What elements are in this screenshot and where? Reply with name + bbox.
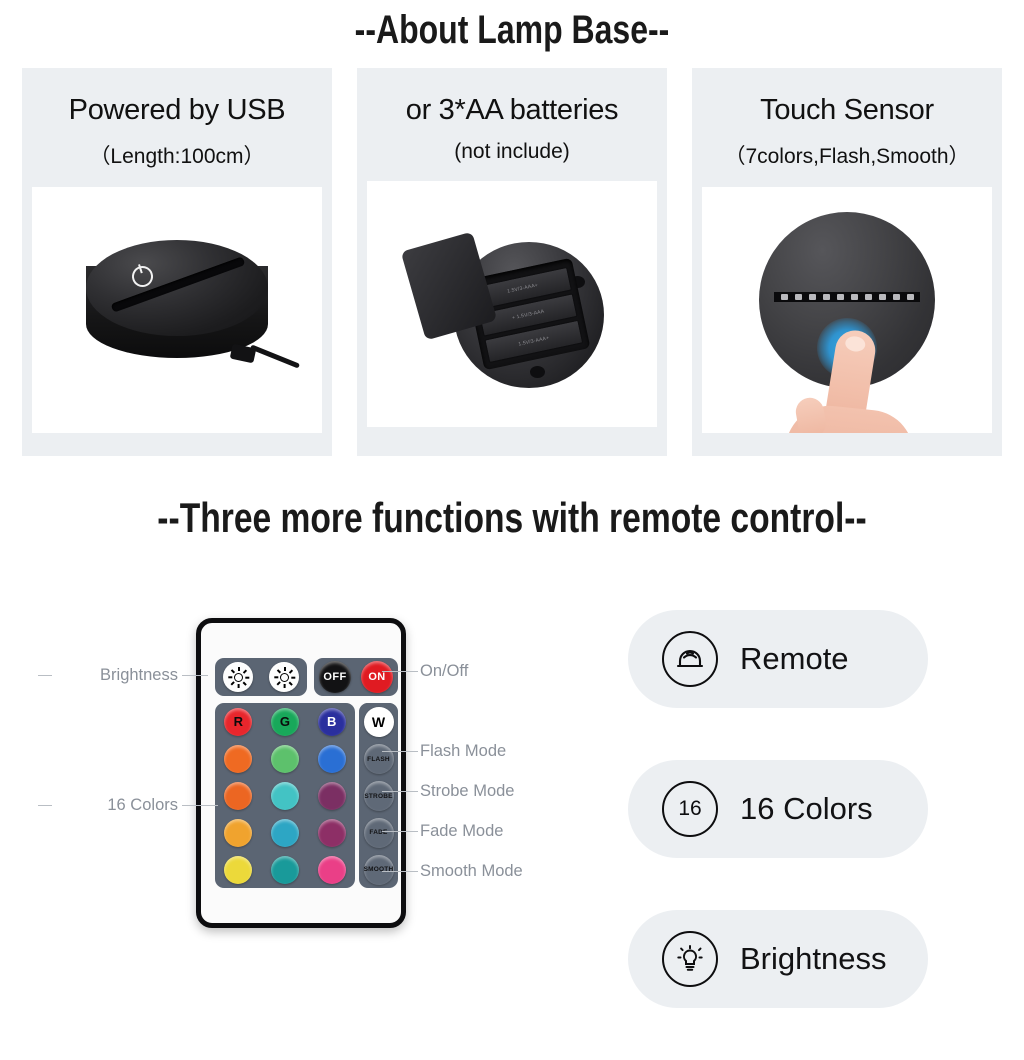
color-button[interactable] bbox=[318, 856, 346, 884]
smooth-button[interactable]: SMOOTH bbox=[364, 855, 394, 885]
flash-button[interactable]: FLASH bbox=[364, 744, 394, 774]
card-title: or 3*AA batteries bbox=[406, 94, 619, 127]
pill-remote: Remote bbox=[628, 610, 928, 708]
white-button[interactable]: W bbox=[364, 707, 394, 737]
pill-16-colors: 16 16 Colors bbox=[628, 760, 928, 858]
fade-button[interactable]: FADE bbox=[364, 818, 394, 848]
led bbox=[879, 294, 886, 300]
touch-base-illustration bbox=[759, 212, 935, 388]
pill-label: Brightness bbox=[740, 941, 886, 977]
card-subtitle: (not include) bbox=[454, 140, 570, 164]
led bbox=[865, 294, 872, 300]
remote-control[interactable]: OFF ON R G B FLASH bbox=[196, 618, 406, 928]
brightness-up-button[interactable] bbox=[223, 662, 253, 692]
color-button[interactable] bbox=[271, 782, 299, 810]
color-button[interactable] bbox=[318, 782, 346, 810]
card-touch-sensor: Touch Sensor （7colors,Flash,Smooth） bbox=[692, 68, 1002, 456]
page-title-about-lamp-base: --About Lamp Base-- bbox=[102, 8, 921, 53]
bulb-icon bbox=[662, 931, 718, 987]
sun-icon bbox=[230, 669, 247, 686]
leader-line bbox=[38, 675, 52, 676]
color-button[interactable] bbox=[224, 745, 252, 773]
touch-sensor-photo bbox=[702, 187, 992, 433]
battery-compartment-photo: 1.5V/3-AAA+ + 1.5V/3-AAA 1.5V/3-AAA+ bbox=[367, 181, 657, 427]
leader-line bbox=[382, 751, 418, 752]
rubber-foot bbox=[530, 366, 545, 378]
color-button[interactable] bbox=[318, 745, 346, 773]
color-button[interactable] bbox=[271, 856, 299, 884]
callout-fade-mode: Fade Mode bbox=[420, 822, 503, 841]
lamp-base-cards: Powered by USB （Length:100cm） or 3*AA ba… bbox=[22, 68, 1002, 456]
pill-brightness: Brightness bbox=[628, 910, 928, 1008]
remote-signal-icon bbox=[662, 631, 718, 687]
callout-flash-mode: Flash Mode bbox=[420, 742, 506, 761]
leader-line bbox=[382, 871, 418, 872]
callout-strobe-mode: Strobe Mode bbox=[420, 782, 514, 801]
battery-cover bbox=[401, 231, 497, 340]
infographic-root: --About Lamp Base-- Powered by USB （Leng… bbox=[0, 0, 1024, 1024]
sun-icon bbox=[276, 669, 293, 686]
led bbox=[823, 294, 830, 300]
brightness-pad bbox=[215, 658, 307, 696]
card-aa-batteries: or 3*AA batteries (not include) 1.5V/3-A… bbox=[357, 68, 667, 456]
on-button[interactable]: ON bbox=[361, 661, 393, 693]
callout-smooth-mode: Smooth Mode bbox=[420, 862, 523, 881]
page-title-remote-functions: --Three more functions with remote contr… bbox=[102, 494, 921, 542]
strobe-button[interactable]: STROBE bbox=[364, 781, 394, 811]
color-button[interactable] bbox=[224, 819, 252, 847]
usb-lamp-base-photo bbox=[32, 187, 322, 433]
battery-base-illustration: 1.5V/3-AAA+ + 1.5V/3-AAA 1.5V/3-AAA+ bbox=[412, 224, 612, 394]
white-pad: W bbox=[359, 703, 398, 741]
color-button-r[interactable]: R bbox=[224, 708, 252, 736]
color-button[interactable] bbox=[271, 745, 299, 773]
color-button[interactable] bbox=[224, 856, 252, 884]
led bbox=[781, 294, 788, 300]
pill-label: Remote bbox=[740, 641, 849, 677]
callout-brightness: Brightness bbox=[56, 666, 178, 685]
card-title: Powered by USB bbox=[69, 94, 286, 127]
off-button[interactable]: OFF bbox=[319, 661, 351, 693]
usb-cable bbox=[250, 344, 300, 368]
number-circle-icon: 16 bbox=[662, 781, 718, 837]
card-subtitle: （Length:100cm） bbox=[89, 140, 264, 170]
leader-line bbox=[382, 671, 418, 672]
card-subtitle: （7colors,Flash,Smooth） bbox=[724, 140, 969, 170]
leader-line bbox=[38, 805, 52, 806]
color-pad: R G B bbox=[215, 703, 355, 888]
lamp-base-illustration bbox=[86, 240, 268, 390]
color-button[interactable] bbox=[224, 782, 252, 810]
leader-line bbox=[182, 675, 208, 676]
leader-line bbox=[382, 791, 418, 792]
color-button[interactable] bbox=[271, 819, 299, 847]
led bbox=[893, 294, 900, 300]
color-button-b[interactable]: B bbox=[318, 708, 346, 736]
callout-16-colors: 16 Colors bbox=[56, 796, 178, 815]
color-button-g[interactable]: G bbox=[271, 708, 299, 736]
color-button[interactable] bbox=[318, 819, 346, 847]
led bbox=[851, 294, 858, 300]
brightness-down-button[interactable] bbox=[269, 662, 299, 692]
led bbox=[907, 294, 914, 300]
led bbox=[795, 294, 802, 300]
leader-line bbox=[382, 831, 418, 832]
led-strip bbox=[774, 292, 920, 302]
remote-control-diagram: OFF ON R G B FLASH bbox=[196, 618, 406, 928]
led bbox=[809, 294, 816, 300]
card-title: Touch Sensor bbox=[760, 94, 934, 127]
led bbox=[837, 294, 844, 300]
power-pad: OFF ON bbox=[314, 658, 398, 696]
pill-label: 16 Colors bbox=[740, 791, 873, 827]
callout-on-off: On/Off bbox=[420, 662, 468, 681]
card-powered-by-usb: Powered by USB （Length:100cm） bbox=[22, 68, 332, 456]
leader-line bbox=[182, 805, 218, 806]
feature-pill-list: Remote 16 16 Colors Brightness bbox=[628, 610, 928, 1060]
